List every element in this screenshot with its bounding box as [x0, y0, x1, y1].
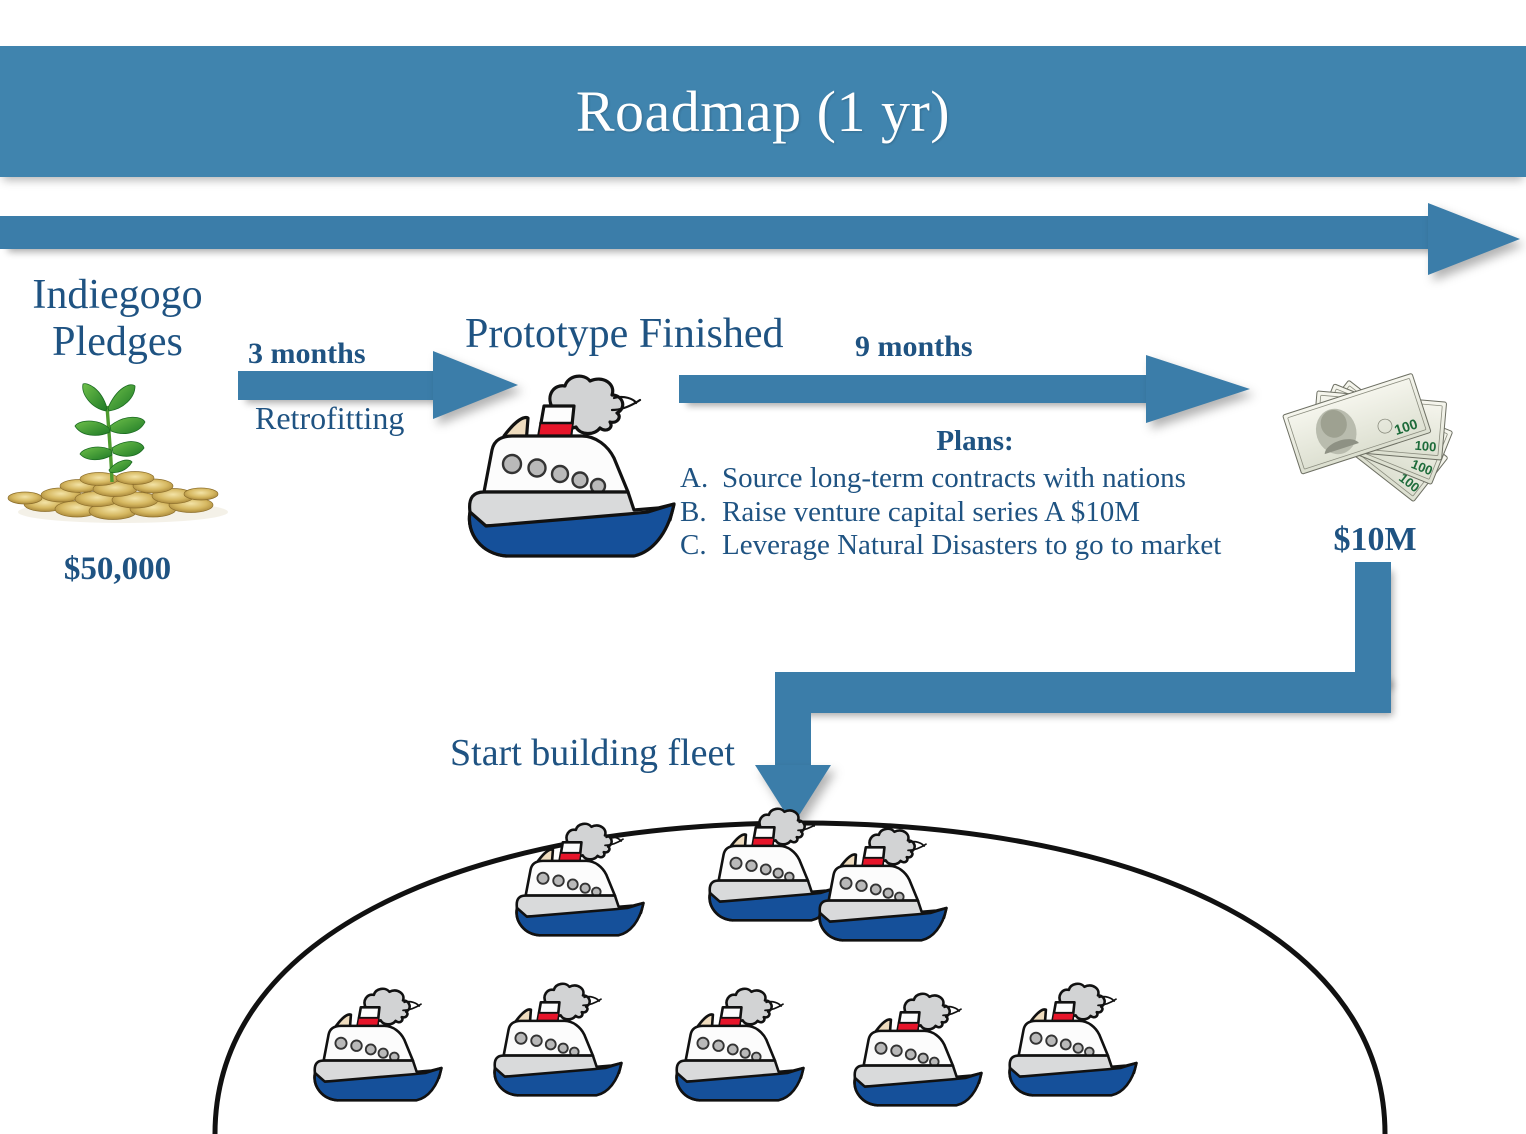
timeline-arrow-head-icon — [1428, 203, 1520, 275]
plans-item-text: Raise venture capital series A $10M — [722, 496, 1140, 530]
sprout-growing-from-coins-image — [5, 378, 237, 523]
fleet-ship — [1010, 984, 1137, 1096]
fleet-ship — [517, 824, 644, 936]
fleet-arrow-horizontal — [775, 672, 1391, 713]
plans-item-marker: A. — [680, 462, 722, 496]
slide-title-banner: Roadmap (1 yr) — [0, 46, 1526, 177]
cargo-ship-illustration — [462, 362, 697, 562]
stage-1-amount: $50,000 — [10, 551, 225, 588]
list-item: B. Raise venture capital series A $10M — [680, 496, 1260, 530]
timeline-arrow-shaft — [0, 216, 1434, 249]
plans-heading: Plans: — [690, 425, 1260, 458]
stage-4-label: Start building fleet — [450, 731, 735, 775]
plans-item-marker: B. — [680, 496, 722, 530]
stage-1-heading: IndiegogoPledges — [10, 272, 225, 366]
fanned-hundred-dollar-bills-image: 100 100 100 — [1262, 334, 1487, 509]
plans-item-text: Source long-term contracts with nations — [722, 462, 1186, 496]
nine-month-arrow-head-icon — [1146, 355, 1250, 423]
list-item: A. Source long-term contracts with natio… — [680, 462, 1260, 496]
list-item: C. Leverage Natural Disasters to go to m… — [680, 529, 1260, 563]
fleet-ship — [677, 989, 804, 1101]
plans-block: Plans: A. Source long-term contracts wit… — [680, 425, 1260, 563]
svg-text:100: 100 — [1414, 438, 1437, 455]
fleet-of-ships-illustration — [160, 805, 1440, 1134]
stage-2-heading: Prototype Finished — [465, 310, 784, 358]
transition-1-activity: Retrofitting — [255, 400, 404, 437]
three-month-arrow-shaft — [238, 371, 438, 400]
fleet-arrow-vertical-lower — [775, 672, 811, 769]
slide-canvas: Roadmap (1 yr) IndiegogoPledges — [0, 0, 1526, 1134]
page-title: Roadmap (1 yr) — [0, 46, 1526, 177]
transition-1-duration: 3 months — [248, 337, 366, 371]
fleet-ship — [315, 989, 442, 1101]
fleet-ship — [855, 994, 982, 1106]
nine-month-arrow-shaft — [679, 375, 1151, 403]
plans-list: A. Source long-term contracts with natio… — [680, 462, 1260, 563]
fleet-ship — [820, 829, 947, 941]
fleet-ship — [495, 984, 622, 1096]
transition-2-duration: 9 months — [855, 330, 973, 364]
fleet-arrow-vertical-upper — [1355, 562, 1391, 686]
stage-3-amount: $10M — [1285, 521, 1465, 559]
plans-item-text: Leverage Natural Disasters to go to mark… — [722, 529, 1221, 563]
plans-item-marker: C. — [680, 529, 722, 563]
